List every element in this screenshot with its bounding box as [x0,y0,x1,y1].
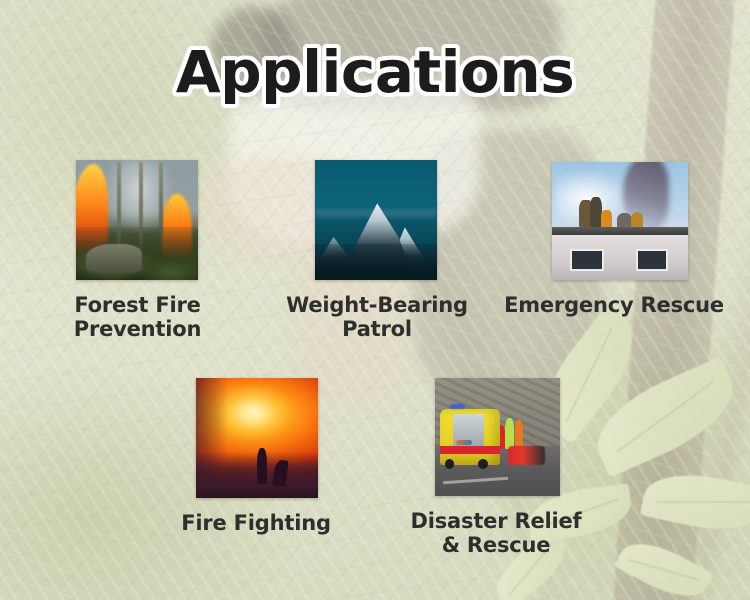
application-card-emergency-rescue[interactable]: Emergency Rescue [498,162,730,318]
wildfire-artwork [196,378,318,498]
firefighter-silhouette [257,448,267,484]
fire-glow-shape [218,385,289,440]
rooftop-firefighters-photo [552,162,688,280]
window-shape [570,249,604,270]
rescue-worker-figure [515,420,523,446]
rescue-equipment-shape [508,446,546,465]
application-card-disaster-relief-rescue[interactable]: Disaster Relief & Rescue [380,378,612,557]
applications-slide: Applications Forest Fire Prevention [0,0,750,600]
firefighter-figure [631,212,643,229]
firefighter-figure [617,213,632,228]
mossy-rock-shape [86,244,142,273]
roof-edge-shape [552,227,688,235]
emergency-light-bar [450,404,466,410]
card-label-emergency-rescue: Emergency Rescue [498,294,730,318]
ambulance-rescue-photo [435,378,560,496]
rooftop-rescue-artwork [552,162,688,280]
forest-fire-artwork [76,160,198,280]
card-label-disaster-relief-rescue: Disaster Relief & Rescue [380,510,612,557]
card-label-fire-fighting: Fire Fighting [140,512,372,536]
application-card-forest-fire-prevention[interactable]: Forest Fire Prevention [20,160,255,341]
tree-trunk-shape [159,162,163,234]
ambulance-artwork [435,378,560,496]
snow-mountain-photo [315,160,437,280]
card-label-forest-fire-prevention: Forest Fire Prevention [20,294,255,341]
red-stripe-shape [440,446,500,454]
mountain-base-shadow [315,244,437,280]
page-title: Applications [0,38,750,106]
forest-fire-photo [76,160,198,280]
stretcher-shape [456,440,473,445]
wildfire-silhouettes-photo [196,378,318,498]
rescue-worker-figure [505,418,514,449]
window-shape [636,249,667,270]
ambulance-vehicle-shape [440,409,500,466]
card-label-weight-bearing-patrol: Weight-Bearing Patrol [268,294,486,341]
firefighter-figure [601,210,612,228]
application-card-fire-fighting[interactable]: Fire Fighting [140,378,372,536]
snow-mountain-artwork [315,160,437,280]
application-card-weight-bearing-patrol[interactable]: Weight-Bearing Patrol [268,160,486,341]
